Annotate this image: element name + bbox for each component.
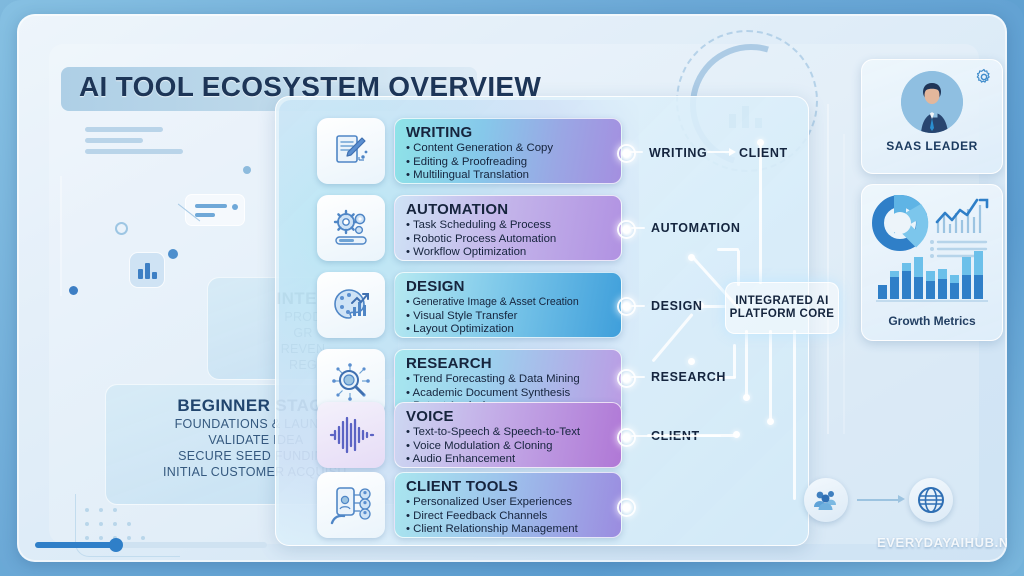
graph-label-research[interactable]: RESEARCH (651, 370, 726, 384)
bg-mini-card (185, 194, 245, 226)
wire-writing-client (707, 151, 731, 153)
card-bullet: Client Relationship Management (406, 523, 612, 537)
bg-vline (843, 134, 845, 434)
card-writing[interactable]: WRITING Content Generation & Copy Editin… (394, 118, 622, 184)
dashboard-board: AI TOOL ECOSYSTEM OVERVIEW INTER PROD GR… (17, 14, 1007, 562)
wire-core-down-a (745, 330, 748, 396)
card-bullet: Text-to-Speech & Speech-to-Text (406, 426, 612, 440)
connector-node-automation[interactable] (617, 220, 636, 239)
wire-automation-2b (717, 248, 739, 251)
graph-label-writing[interactable]: WRITING (649, 146, 707, 160)
card-bullet: Personalized User Experiences (406, 496, 612, 510)
card-automation[interactable]: AUTOMATION Task Scheduling & Process Rob… (394, 195, 622, 261)
card-bullet: Multilingual Translation (406, 169, 612, 183)
flow-arrow-head-icon (898, 495, 905, 503)
bg-ring (115, 222, 128, 235)
progress-fill (35, 542, 117, 548)
row-client-tools[interactable]: CLIENT TOOLS Personalized User Experienc… (317, 472, 622, 538)
connector-node-research[interactable] (617, 369, 636, 388)
outer-frame: AI TOOL ECOSYSTEM OVERVIEW INTER PROD GR… (0, 0, 1024, 576)
card-client-tools[interactable]: CLIENT TOOLS Personalized User Experienc… (394, 472, 622, 538)
users-group-icon[interactable] (804, 478, 848, 522)
wire-endpoint (688, 358, 695, 365)
row-design[interactable]: DESIGN Generative Image & Asset Creation… (317, 272, 622, 338)
card-design[interactable]: DESIGN Generative Image & Asset Creation… (394, 272, 622, 338)
connector-node-design[interactable] (617, 297, 636, 316)
row-writing[interactable]: WRITING Content Generation & Copy Editin… (317, 118, 622, 184)
wire-core-down-c (793, 330, 796, 500)
avatar (901, 71, 963, 133)
wire-research-2 (733, 344, 736, 378)
bg-dot (243, 166, 251, 174)
connector-node-client-tools[interactable] (617, 498, 636, 517)
bar-chart-icon (876, 251, 988, 301)
line-chart-icon (937, 200, 987, 233)
wire-stub-client (631, 435, 721, 437)
audio-waveform-icon (317, 402, 385, 468)
card-title: VOICE (406, 408, 612, 425)
row-voice[interactable]: VOICE Text-to-Speech & Speech-to-Text Vo… (317, 402, 622, 468)
connector-node-writing[interactable] (617, 144, 636, 163)
document-pen-icon (317, 118, 385, 184)
card-voice[interactable]: VOICE Text-to-Speech & Speech-to-Text Vo… (394, 402, 622, 468)
phone-contacts-icon (317, 472, 385, 538)
arrow-head-icon (729, 148, 736, 156)
wire-automation-2 (737, 250, 740, 286)
bar-chart-icon (129, 252, 165, 288)
card-title: RESEARCH (406, 355, 612, 372)
card-bullet: Robotic Process Automation (406, 233, 612, 247)
card-bullet: Voice Modulation & Cloning (406, 440, 612, 454)
bg-vline (827, 104, 829, 434)
card-bullet: Task Scheduling & Process (406, 219, 612, 233)
card-bullet: Audio Enhancement (406, 453, 612, 467)
wire-endpoint (743, 394, 750, 401)
graph-label-client-top[interactable]: CLIENT (739, 146, 788, 160)
wire-endpoint (733, 431, 740, 438)
connector-node-voice[interactable] (617, 428, 636, 447)
graph-label-automation[interactable]: AUTOMATION (651, 221, 741, 235)
saas-leader-label: SAAS LEADER (862, 139, 1002, 153)
saas-leader-card[interactable]: SAAS LEADER (861, 59, 1003, 174)
wire-endpoint (688, 254, 695, 261)
card-title: WRITING (406, 124, 612, 141)
card-bullet: Academic Document Synthesis (406, 387, 612, 401)
bg-dot (69, 286, 78, 295)
wire-endpoint (767, 418, 774, 425)
card-bullet: Visual Style Transfer (406, 310, 612, 324)
metrics-chart-graphic (868, 191, 996, 309)
bg-dot (168, 249, 178, 259)
bg-vline (60, 176, 62, 296)
watermark: EVERYDAYAIHUB.NET (877, 535, 1007, 550)
growth-metrics-label: Growth Metrics (862, 314, 1002, 328)
progress-knob[interactable] (109, 538, 123, 552)
gear-icon[interactable] (975, 68, 993, 91)
row-automation[interactable]: AUTOMATION Task Scheduling & Process Rob… (317, 195, 622, 261)
card-bullet: Trend Forecasting & Data Mining (406, 373, 612, 387)
gears-automation-icon (317, 195, 385, 261)
card-bullet: Generative Image & Asset Creation (406, 296, 612, 310)
wire-client-top (759, 142, 762, 284)
decorative-lines (85, 127, 183, 160)
growth-metrics-card[interactable]: Growth Metrics (861, 184, 1003, 341)
bg-dot-grid (79, 502, 189, 562)
card-bullet: Direct Feedback Channels (406, 510, 612, 524)
integrated-core-node[interactable]: INTEGRATED AI PLATFORM CORE (725, 282, 839, 334)
graph-label-design[interactable]: DESIGN (651, 299, 703, 313)
card-title: AUTOMATION (406, 201, 612, 218)
core-label-line2: PLATFORM CORE (730, 308, 835, 321)
card-bullet: Content Generation & Copy (406, 142, 612, 156)
card-bullet: Layout Optimization (406, 323, 612, 337)
card-bullet: Editing & Proofreading (406, 156, 612, 170)
card-bullet: Workflow Optimization (406, 246, 612, 260)
donut-chart-icon (878, 201, 922, 245)
palette-chart-icon (317, 272, 385, 338)
wire-endpoint (757, 139, 764, 146)
flow-arrow-line (857, 499, 899, 501)
globe-icon[interactable] (909, 478, 953, 522)
card-title: CLIENT TOOLS (406, 478, 612, 495)
core-label-line1: INTEGRATED AI (730, 295, 835, 308)
card-title: DESIGN (406, 278, 612, 295)
wire-core-down-b (769, 330, 772, 420)
